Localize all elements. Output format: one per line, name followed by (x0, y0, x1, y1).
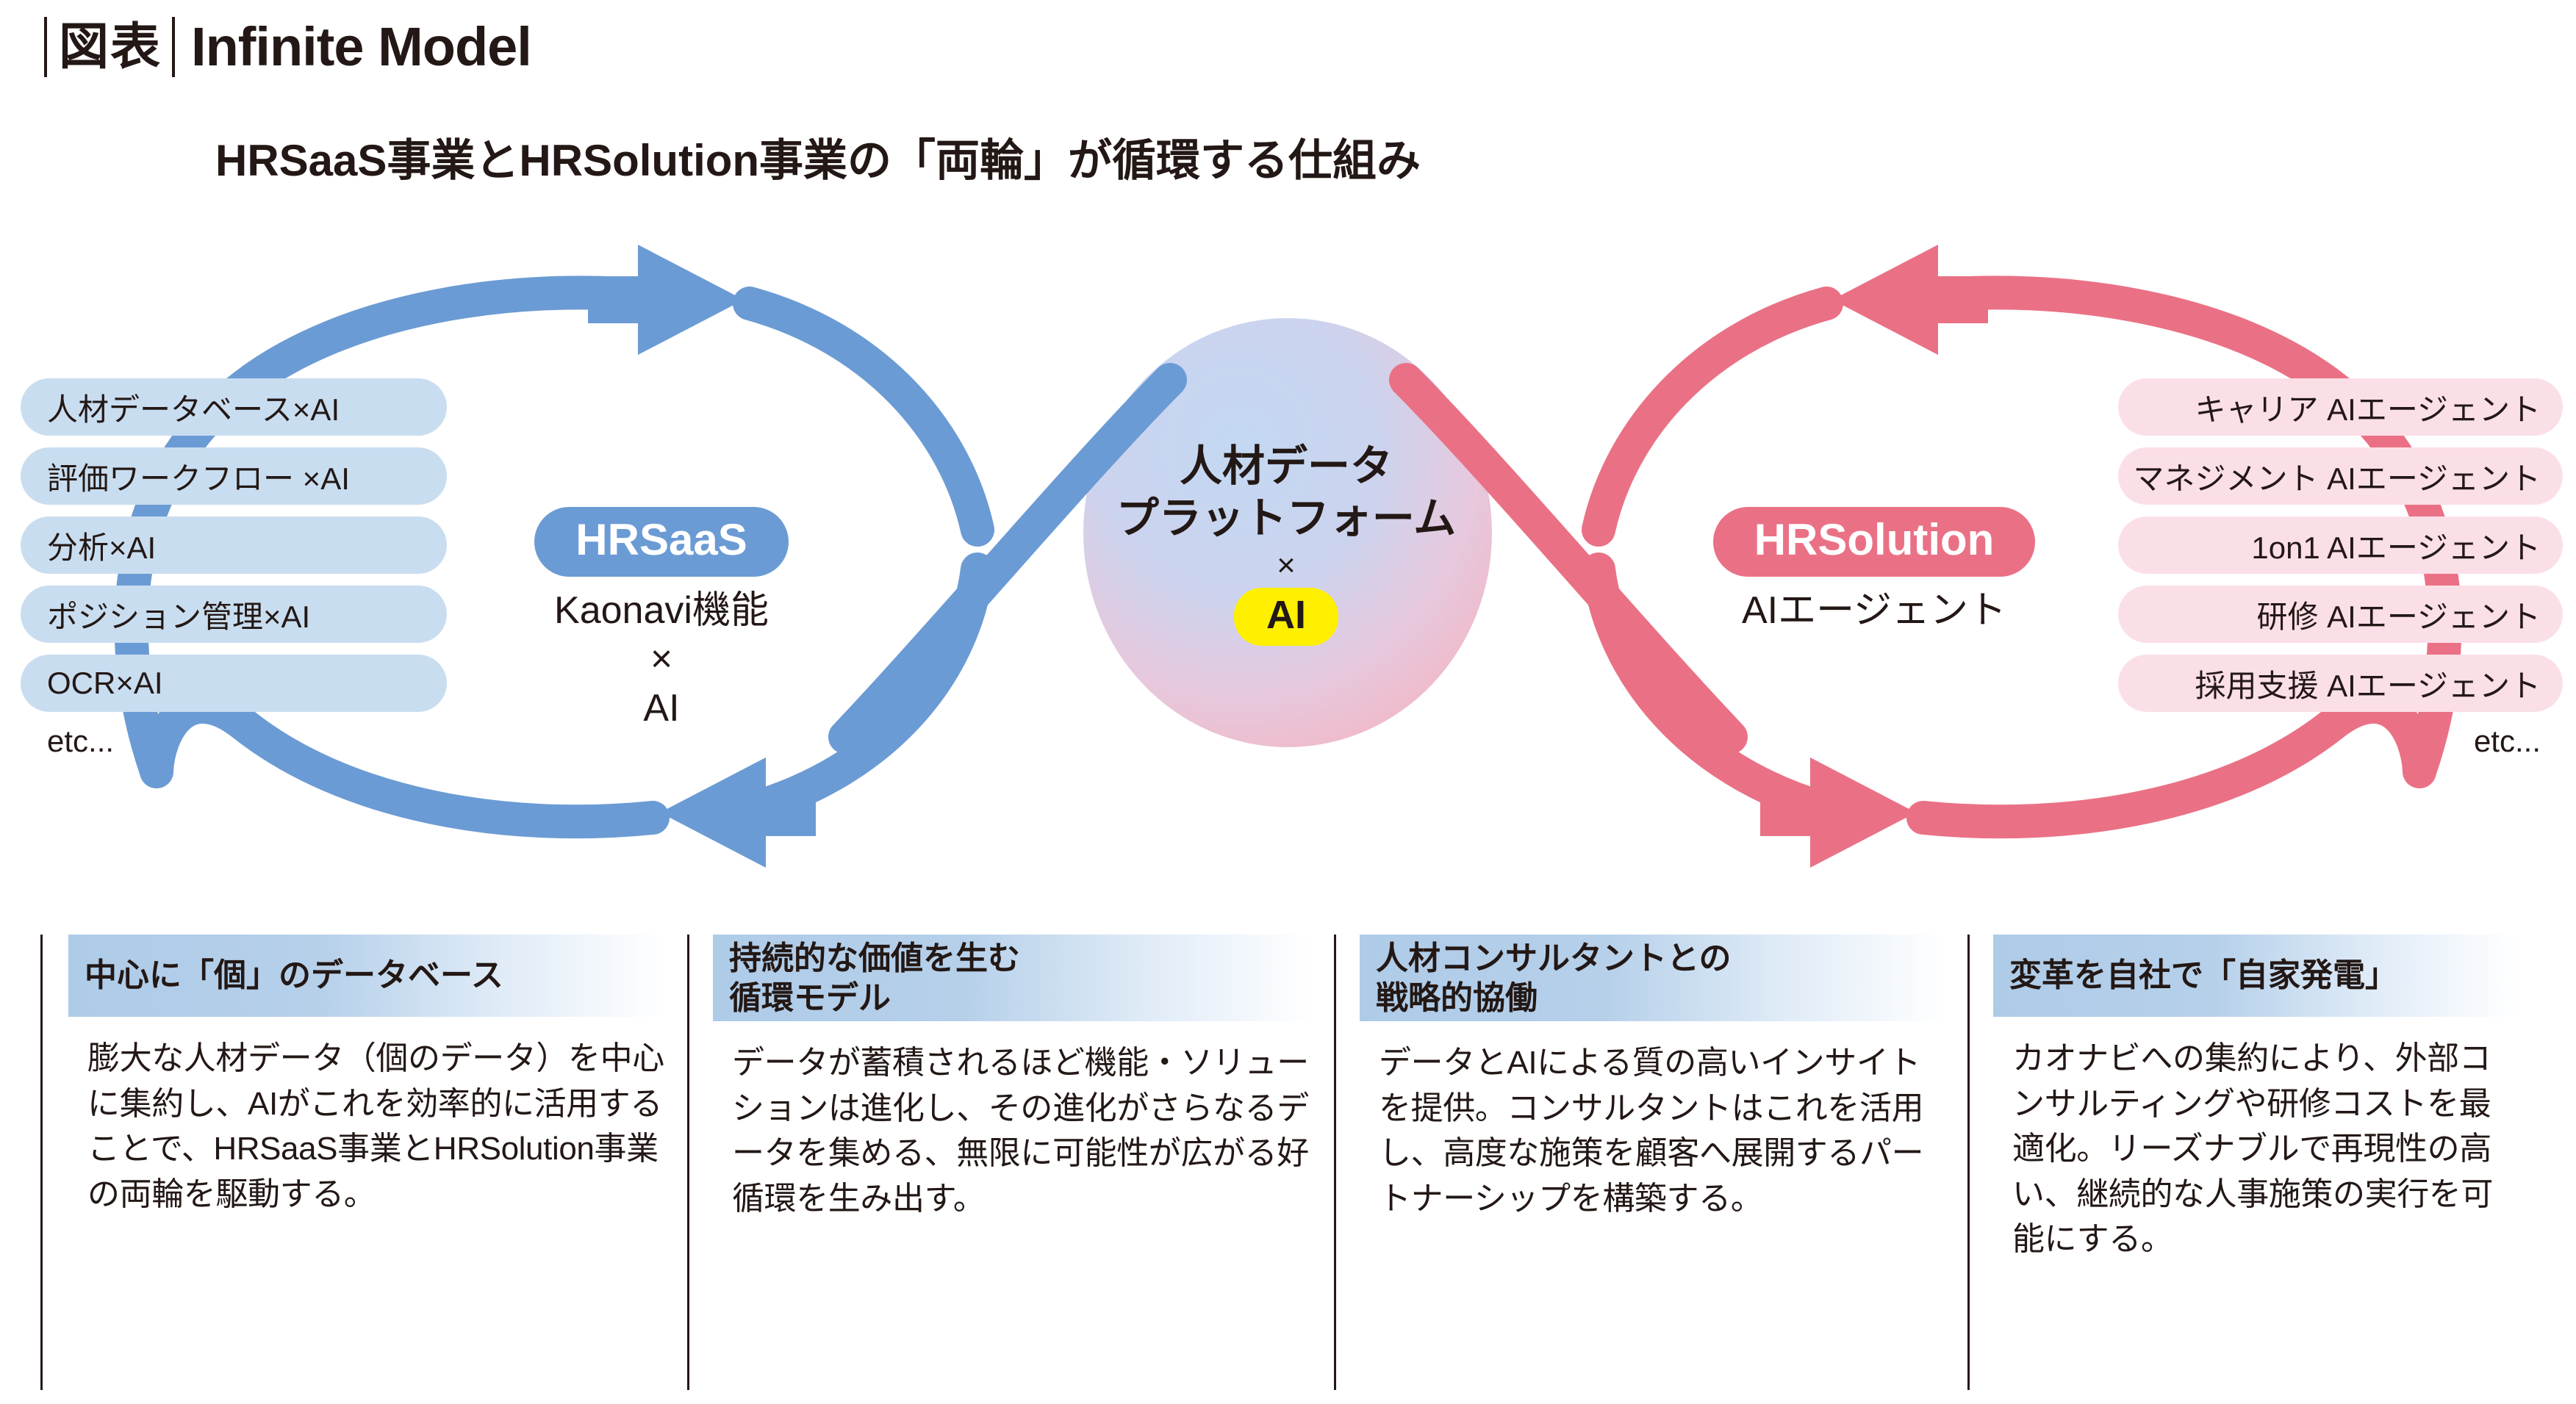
card-body: カオナビへの集約により、外部コンサルティングや研修コストを最適化。リーズナブルで… (1996, 1036, 2517, 1262)
pink-arrow-bottom-icon (1760, 757, 1916, 868)
page-title: Infinite Model (175, 20, 531, 74)
card-body-text: データが蓄積されるほど機能・ソリューションは進化し、その進化がさらなるデータを集… (732, 1040, 1312, 1221)
card-header-line1: 変革を自社で「自家発電」 (2009, 956, 2397, 996)
card-header-line1: 持続的な価値を生む (729, 939, 1020, 979)
list-item[interactable]: 1on1 AIエージェント (2118, 516, 2563, 574)
card-header: 持続的な価値を生む 循環モデル (713, 935, 1312, 1021)
page-subtitle: HRSaaS事業とHRSolution事業の「両輪」が循環する仕組み (215, 125, 1421, 189)
blue-arrow-bottom-icon (660, 757, 816, 868)
card-header: 変革を自社で「自家発電」 (1993, 935, 2517, 1017)
list-item[interactable]: 分析×AI (21, 516, 447, 574)
list-item[interactable]: OCR×AI (21, 655, 447, 712)
hrsolution-sub-line1: AIエージェント (1668, 587, 2080, 634)
card-header-line2: 循環モデル (729, 979, 1020, 1018)
card-body-text: データとAIによる質の高いインサイトを提供。コンサルタントはこれを活用し、高度な… (1379, 1040, 1945, 1221)
infographic-canvas: 図表 Infinite Model HRSaaS事業とHRSolution事業の… (0, 0, 2576, 1404)
card-header: 中心に「個」のデータベース (68, 935, 665, 1017)
card-header: 人材コンサルタントとの 戦略的協働 (1360, 935, 1945, 1021)
list-item[interactable]: ポジション管理×AI (21, 586, 447, 643)
hrsolution-badge: HRSolution (1713, 507, 2036, 577)
list-item[interactable]: キャリア AIエージェント (2118, 378, 2563, 436)
blue-arrow-top-icon (588, 245, 744, 355)
hrsaas-badge: HRSaaS (534, 507, 788, 577)
list-item[interactable]: マネジメント AIエージェント (2118, 447, 2563, 505)
summary-card: 中心に「個」のデータベース 膨大な人材データ（個のデータ）を中心に集約し、AIが… (40, 935, 687, 1390)
center-title-line2: プラットフォーム (1051, 493, 1521, 545)
hrsaas-feature-tag-list: 人材データベース×AI 評価ワークフロー ×AI 分析×AI ポジション管理×A… (21, 378, 447, 759)
center-platform-node: 人材データ プラットフォーム × AI (1051, 441, 1521, 646)
list-item[interactable]: 評価ワークフロー ×AI (21, 447, 447, 505)
pink-arrow-top-icon (1832, 245, 1988, 355)
left-tags-etc-label: etc... (21, 724, 447, 759)
hrsaas-node: HRSaaS Kaonavi機能 × AI (470, 507, 853, 732)
hrsaas-sub-line1: Kaonavi機能 (470, 587, 853, 634)
right-tags-etc-label: etc... (2118, 724, 2563, 759)
summary-card: 持続的な価値を生む 循環モデル データが蓄積されるほど機能・ソリューションは進化… (687, 935, 1334, 1390)
hrsolution-node: HRSolution AIエージェント (1668, 507, 2080, 634)
list-item[interactable]: 人材データベース×AI (21, 378, 447, 436)
center-operator: × (1051, 548, 1521, 583)
list-item[interactable]: 研修 AIエージェント (2118, 586, 2563, 643)
summary-card-list: 中心に「個」のデータベース 膨大な人材データ（個のデータ）を中心に集約し、AIが… (40, 935, 2539, 1390)
hrsaas-sub-operator: × (470, 636, 853, 683)
card-header-line1: 人材コンサルタントとの (1376, 939, 1732, 979)
card-body: データが蓄積されるほど機能・ソリューションは進化し、その進化がさらなるデータを集… (716, 1040, 1312, 1221)
card-header-line2: 戦略的協働 (1376, 979, 1732, 1018)
card-body: データとAIによる質の高いインサイトを提供。コンサルタントはこれを活用し、高度な… (1363, 1040, 1945, 1221)
hrsolution-agent-tag-list: キャリア AIエージェント マネジメント AIエージェント 1on1 AIエージ… (2118, 378, 2563, 759)
center-title-line1: 人材データ (1051, 441, 1521, 493)
summary-card: 人材コンサルタントとの 戦略的協働 データとAIによる質の高いインサイトを提供。… (1334, 935, 1967, 1390)
card-header-line1: 中心に「個」のデータベース (85, 956, 503, 996)
list-item[interactable]: 採用支援 AIエージェント (2118, 655, 2563, 712)
header-kicker: 図表 (47, 22, 172, 72)
card-body-text: 膨大な人材データ（個のデータ）を中心に集約し、AIがこれを効率的に活用することで… (87, 1036, 665, 1217)
card-body-text: カオナビへの集約により、外部コンサルティングや研修コストを最適化。リーズナブルで… (2012, 1036, 2517, 1262)
ai-chip-badge: AI (1234, 588, 1338, 646)
card-body: 膨大な人材データ（個のデータ）を中心に集約し、AIがこれを効率的に活用することで… (71, 1036, 665, 1217)
page-header: 図表 Infinite Model (44, 13, 531, 81)
hrsaas-sub-line3: AI (470, 685, 853, 732)
summary-card: 変革を自社で「自家発電」 カオナビへの集約により、外部コンサルティングや研修コス… (1967, 935, 2539, 1390)
